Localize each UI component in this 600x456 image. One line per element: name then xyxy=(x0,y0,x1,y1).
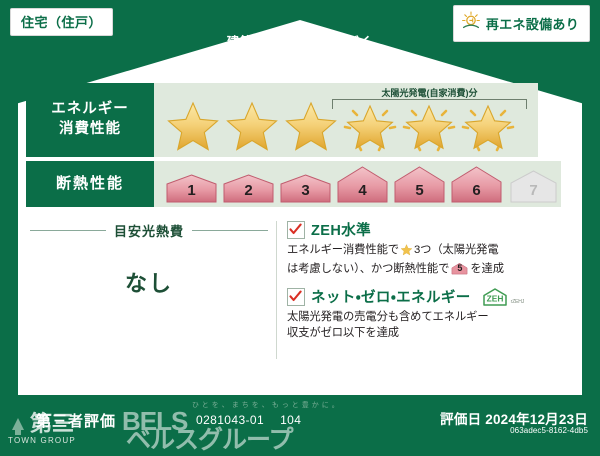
claim-net-zero-line1: 太陽光発電の売電分も含めてエネルギー xyxy=(287,311,489,323)
claim-zeh-standard-head: ZEH水準 xyxy=(287,219,538,240)
star-filled-solar xyxy=(341,97,399,153)
checkbox-zeh-standard[interactable] xyxy=(287,221,305,239)
insulation-chip-label: 4 xyxy=(335,182,390,199)
renewable-equipment-badge: 再エネ設備あり xyxy=(453,5,590,42)
claim-zeh-standard: ZEH水準 エネルギー消費性能で3つ（太陽光発電 は考慮しない）、かつ断熱性能で… xyxy=(287,219,538,277)
svg-text:ZEH: ZEH xyxy=(486,293,503,303)
bottom-section: 目安光熱費 なし ZEH水準 エネルギー消費性能で3つ（太陽光発電 xyxy=(26,215,538,365)
insulation-chip: 3 xyxy=(278,167,333,203)
evaluation-date: 評価日 2024年12月23日 xyxy=(440,408,588,428)
energy-stars-panel: 太陽光発電(自家消費)分 xyxy=(154,83,538,157)
star-rating xyxy=(154,97,517,153)
zeh-logo-subtext: гZEHЈ xyxy=(511,299,524,307)
evaluation-hash: 063adec5-8162-4db5 xyxy=(510,426,588,435)
bels-watermark-text: BELS xyxy=(122,406,187,437)
claim-net-zero-head: ネット・ゼロ・エネルギー ZEH гZEHЈ xyxy=(287,286,538,307)
performance-section: エネルギー 消費性能 太陽光発電(自家消費)分 xyxy=(26,83,538,211)
third-party-evaluation-label: 第三者評価 xyxy=(36,410,116,431)
energy-label-line1: エネルギー xyxy=(51,100,129,120)
energy-performance-label: エネルギー 消費性能 xyxy=(26,83,154,157)
claim-desc-mid: は考慮しない）、かつ断熱性能で xyxy=(287,263,449,275)
estimated-cost-value: なし xyxy=(26,266,272,298)
sun-solar-icon xyxy=(460,10,482,37)
insulation-chip-achieved: 6 xyxy=(449,165,504,203)
inline-star-icon xyxy=(400,243,413,261)
claim-net-zero-energy: ネット・ゼロ・エネルギー ZEH гZEHЈ 太陽光発電の売電分も含めてエネルギ… xyxy=(287,286,538,341)
divider-right xyxy=(192,230,268,231)
claim-net-zero-desc: 太陽光発電の売電分も含めてエネルギー 収支がゼロ以下を達成 xyxy=(287,309,538,341)
insulation-chip: 5 xyxy=(392,165,447,203)
evaluation-date-label: 評価日 xyxy=(440,412,481,427)
evaluation-date-value: 2024年12月23日 xyxy=(485,412,588,427)
inline-insulation-chip: 5 xyxy=(451,261,468,276)
star-filled xyxy=(282,97,340,153)
evaluation-number: 0281043-01104 xyxy=(196,413,301,427)
insulation-chip: 2 xyxy=(221,167,276,203)
insulation-chip: 1 xyxy=(164,167,219,203)
label-root: 住宅（住戸） 再エネ設備あり 建築物省エネ法に基づく 省エネ性能ラベル xyxy=(0,0,600,450)
insulation-performance-row: 断熱性能 1 xyxy=(26,161,538,207)
renewable-badge-label: 再エネ設備あり xyxy=(486,14,579,33)
footer: 第三者評価 0281043-01104 評価日 2024年12月23日 063a… xyxy=(0,398,600,450)
claim-net-zero-title: ネット・ゼロ・エネルギー xyxy=(311,286,471,307)
claim-zeh-standard-desc: エネルギー消費性能で3つ（太陽光発電 は考慮しない）、かつ断熱性能で5を達成 xyxy=(287,242,538,277)
insulation-performance-label: 断熱性能 xyxy=(26,161,154,207)
insulation-chip-label: 5 xyxy=(392,182,447,199)
insulation-chip-label: 7 xyxy=(506,182,561,199)
evaluation-number-main: 0281043-01 xyxy=(196,413,264,427)
town-group-watermark-text: TOWN GROUP xyxy=(8,436,76,445)
claim-desc-post: を達成 xyxy=(470,263,504,275)
energy-performance-row: エネルギー 消費性能 太陽光発電(自家消費)分 xyxy=(26,83,538,157)
vertical-divider xyxy=(276,221,277,359)
divider-left xyxy=(30,230,106,231)
star-filled xyxy=(223,97,281,153)
insulation-levels-panel: 1 2 3 xyxy=(154,161,561,207)
estimated-cost-title: 目安光熱費 xyxy=(114,221,184,240)
checkbox-net-zero-energy[interactable] xyxy=(287,288,305,306)
estimated-cost-block: 目安光熱費 なし xyxy=(26,215,272,365)
estimated-cost-heading: 目安光熱費 xyxy=(26,215,272,240)
claim-net-zero-line2: 収支がゼロ以下を達成 xyxy=(287,327,399,339)
insulation-chip-label: 2 xyxy=(221,182,276,199)
claim-desc-starcount: 3つ（太陽光発電 xyxy=(414,244,499,256)
star-filled-solar xyxy=(400,97,458,153)
insulation-chip-disabled: 7 xyxy=(506,169,561,203)
insulation-chip-label: 3 xyxy=(278,182,333,199)
claim-zeh-standard-title: ZEH水準 xyxy=(311,219,371,240)
building-type-badge: 住宅（住戸） xyxy=(10,8,113,36)
evaluation-number-sub: 104 xyxy=(280,413,301,427)
star-filled-solar xyxy=(459,97,517,153)
zeh-logo-badge: ZEH гZEHЈ xyxy=(480,287,524,307)
energy-label-line2: 消費性能 xyxy=(59,120,121,140)
insulation-chip-label: 1 xyxy=(164,182,219,199)
claim-desc-pre: エネルギー消費性能で xyxy=(287,244,399,256)
star-filled xyxy=(164,97,222,153)
insulation-level-list: 1 2 3 xyxy=(154,165,561,203)
inline-chip-label: 5 xyxy=(451,262,468,275)
bels-watermark-tagline: ひとを、まちを、もっと豊かに。 xyxy=(192,400,342,410)
claims-block: ZEH水準 エネルギー消費性能で3つ（太陽光発電 は考慮しない）、かつ断熱性能で… xyxy=(287,215,538,365)
insulation-chip-label: 6 xyxy=(449,182,504,199)
insulation-chip: 4 xyxy=(335,165,390,203)
